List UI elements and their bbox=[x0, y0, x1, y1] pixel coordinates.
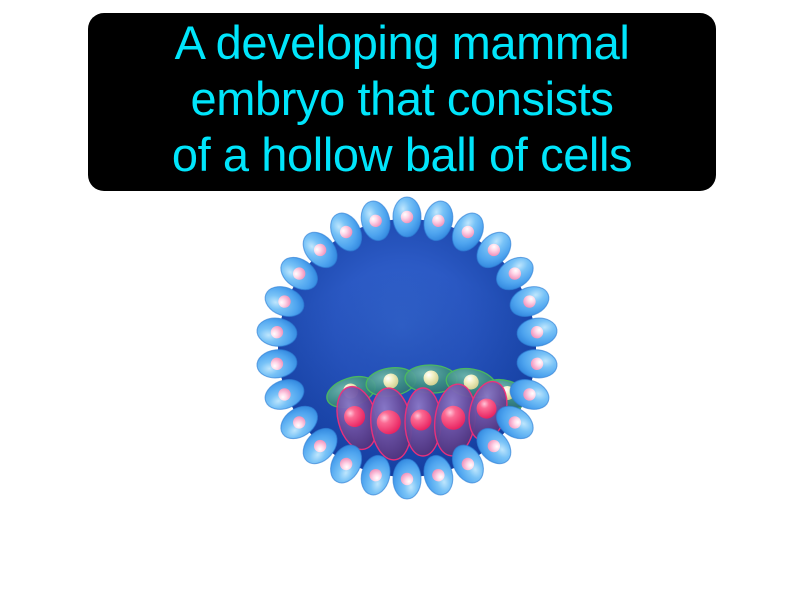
epiblast-nucleus bbox=[411, 410, 432, 431]
definition-text: A developing mammal embryo that consists… bbox=[172, 15, 632, 183]
blastocyst-diagram bbox=[255, 196, 560, 501]
definition-card: A developing mammal embryo that consists… bbox=[0, 0, 800, 600]
definition-banner: A developing mammal embryo that consists… bbox=[88, 13, 716, 191]
trophoblast-cell bbox=[393, 459, 421, 499]
trophoblast-nucleus bbox=[401, 473, 413, 485]
trophoblast-nucleus bbox=[401, 211, 413, 223]
trophoblast-cell bbox=[393, 197, 421, 237]
blastocyst-illustration bbox=[255, 196, 560, 501]
